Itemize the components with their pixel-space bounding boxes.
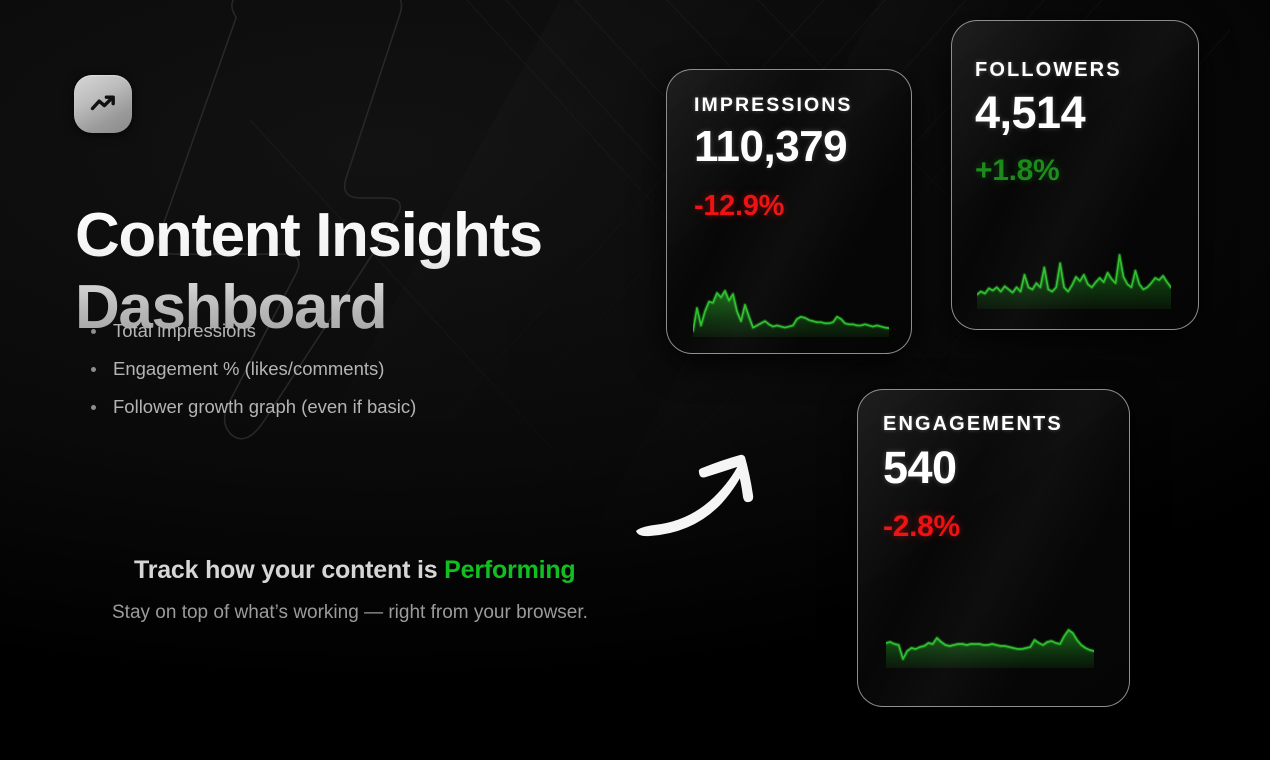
card-value: 4,514 (975, 87, 1085, 139)
tagline-lead: Track how your content is (134, 556, 444, 584)
followers-sparkline (977, 249, 1171, 309)
status-badge: -12.9% (694, 190, 784, 223)
subtagline: Stay on top of what’s working — right fr… (112, 602, 588, 624)
page-title-line-1: Content Insights (75, 200, 635, 272)
impressions-sparkline (693, 275, 889, 337)
status-badge: +1.8% (975, 154, 1059, 188)
card-value: 110,379 (694, 122, 847, 172)
feature-list: Total impressions Engagement % (likes/co… (88, 312, 416, 426)
dashboard-hero-scene: Content Insights Dashboard Total impress… (0, 0, 1270, 760)
metric-card-followers[interactable]: FOLLOWERS 4,514 +1.8% (951, 20, 1199, 330)
app-icon[interactable] (74, 75, 132, 133)
engagements-sparkline (886, 610, 1094, 668)
list-item: Total impressions (88, 312, 416, 350)
tagline-accent: Performing (444, 556, 575, 584)
card-label: ENGAGEMENTS (883, 413, 1063, 436)
metric-card-engagements[interactable]: ENGAGEMENTS 540 -2.8% (857, 389, 1130, 707)
list-item: Engagement % (likes/comments) (88, 350, 416, 388)
card-value: 540 (883, 442, 957, 494)
tagline: Track how your content is Performing (134, 556, 576, 585)
card-label: IMPRESSIONS (694, 94, 853, 117)
card-label: FOLLOWERS (975, 59, 1122, 82)
curved-arrow-up-right-icon (630, 435, 770, 540)
metric-card-impressions[interactable]: IMPRESSIONS 110,379 -12.9% (666, 69, 912, 354)
status-badge: -2.8% (883, 510, 960, 544)
trending-up-icon (86, 87, 120, 121)
list-item: Follower growth graph (even if basic) (88, 388, 416, 426)
